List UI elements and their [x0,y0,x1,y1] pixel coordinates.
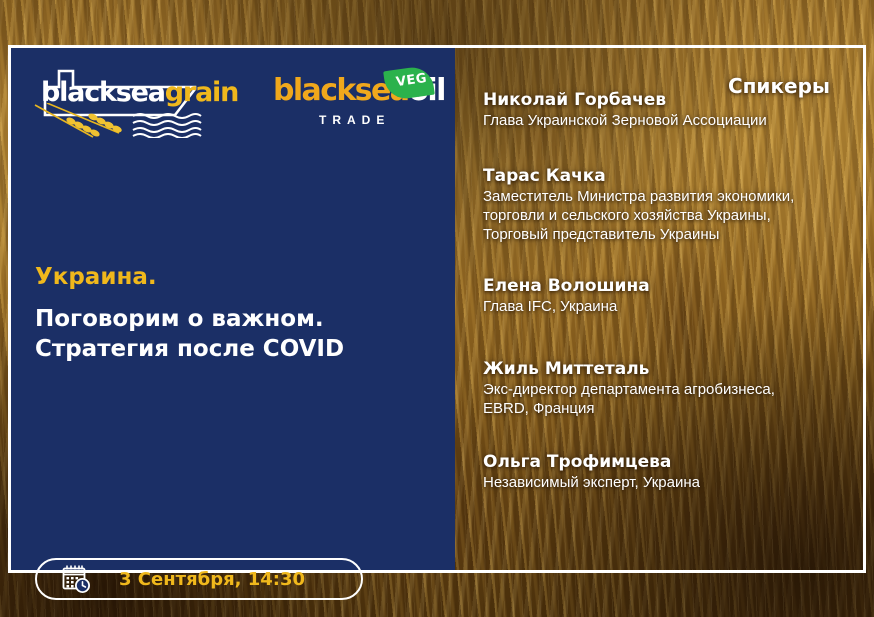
list-item: Жиль Миттеталь Экс-директор департамента… [483,359,863,418]
calendar-clock-icon [61,564,91,594]
blackseaoil-trade-logo[interactable]: blackseaoil VEG TRADE [273,68,441,140]
headline-line-1: Украина. [35,262,435,292]
wave-lines-icon [131,112,203,138]
date-badge-text: 3 Сентября, 14:30 [119,569,305,590]
logo-word-grain: grain [165,77,238,108]
speaker-name: Жиль Миттеталь [483,359,863,380]
speaker-role: Заместитель Министра развития экономики,… [483,187,863,244]
left-info-panel: blackseagrain [11,48,455,570]
headline-line-2: Поговорим о важном. [35,304,435,334]
blackseagrain-wordmark: blackseagrain [41,79,238,106]
list-item: Ольга Трофимцева Независимый эксперт, Ук… [483,452,863,492]
speaker-name: Елена Волошина [483,276,863,297]
speaker-role: Глава IFC, Украина [483,297,863,316]
headline-line-3: Стратегия после COVID [35,334,435,364]
speakers-list: Николай Горбачев Глава Украинской Зернов… [483,90,863,515]
speaker-name: Николай Горбачев [483,90,863,111]
list-item: Николай Горбачев Глава Украинской Зернов… [483,90,863,130]
trade-subtitle: TRADE [319,113,390,127]
list-item: Елена Волошина Глава IFC, Украина [483,276,863,316]
speakers-column: Спикеры Николай Горбачев Глава Украинско… [470,52,866,568]
wheat-stalks-icon [31,103,135,145]
speaker-name: Тарас Качка [483,166,863,187]
date-badge[interactable]: 3 Сентября, 14:30 [35,558,363,600]
speaker-role: Независимый эксперт, Украина [483,473,863,492]
list-item: Тарас Качка Заместитель Министра развити… [483,166,863,244]
speaker-role: Экс-директор департамента агробизнеса,EB… [483,380,863,418]
headline-block: Украина. Поговорим о важном. Стратегия п… [35,262,435,364]
blackseagrain-logo[interactable]: blackseagrain [25,65,210,145]
speaker-role: Глава Украинской Зерновой Ассоциации [483,111,863,130]
logo-row: blackseagrain [11,48,455,158]
speaker-name: Ольга Трофимцева [483,452,863,473]
